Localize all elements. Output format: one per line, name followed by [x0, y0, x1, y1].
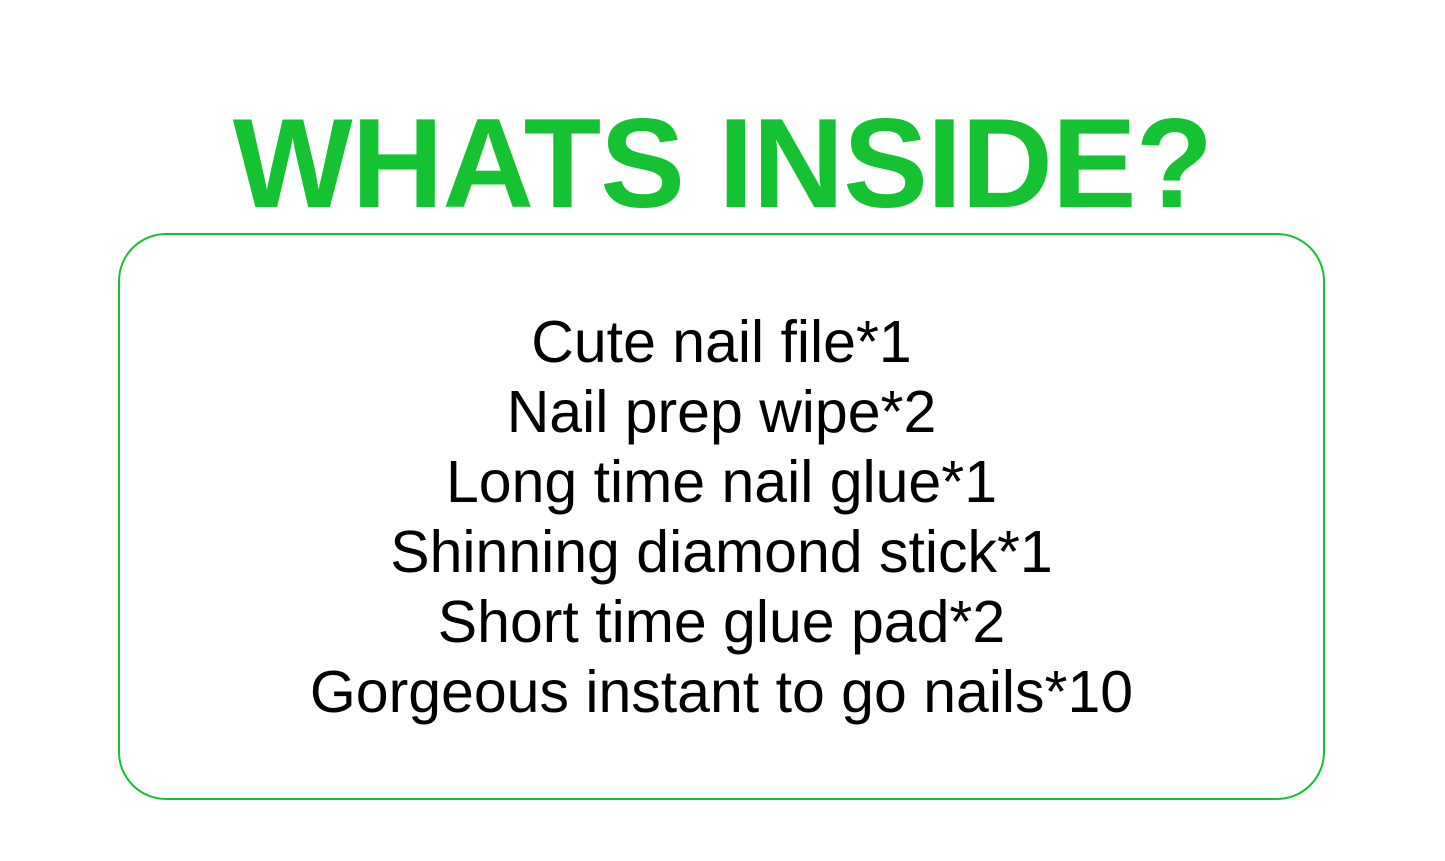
page-title: WHATS INSIDE?	[0, 99, 1445, 229]
included-items-list: Cute nail file*1 Nail prep wipe*2 Long t…	[120, 307, 1323, 727]
list-item: Shinning diamond stick*1	[120, 517, 1323, 587]
list-item: Nail prep wipe*2	[120, 377, 1323, 447]
list-item: Cute nail file*1	[120, 307, 1323, 377]
product-inclusions-graphic: WHATS INSIDE? Cute nail file*1 Nail prep…	[0, 0, 1445, 861]
contents-panel: Cute nail file*1 Nail prep wipe*2 Long t…	[118, 233, 1325, 800]
list-item: Gorgeous instant to go nails*10	[120, 657, 1323, 727]
list-item: Short time glue pad*2	[120, 587, 1323, 657]
contents-panel-inner: Cute nail file*1 Nail prep wipe*2 Long t…	[120, 235, 1323, 798]
list-item: Long time nail glue*1	[120, 447, 1323, 517]
